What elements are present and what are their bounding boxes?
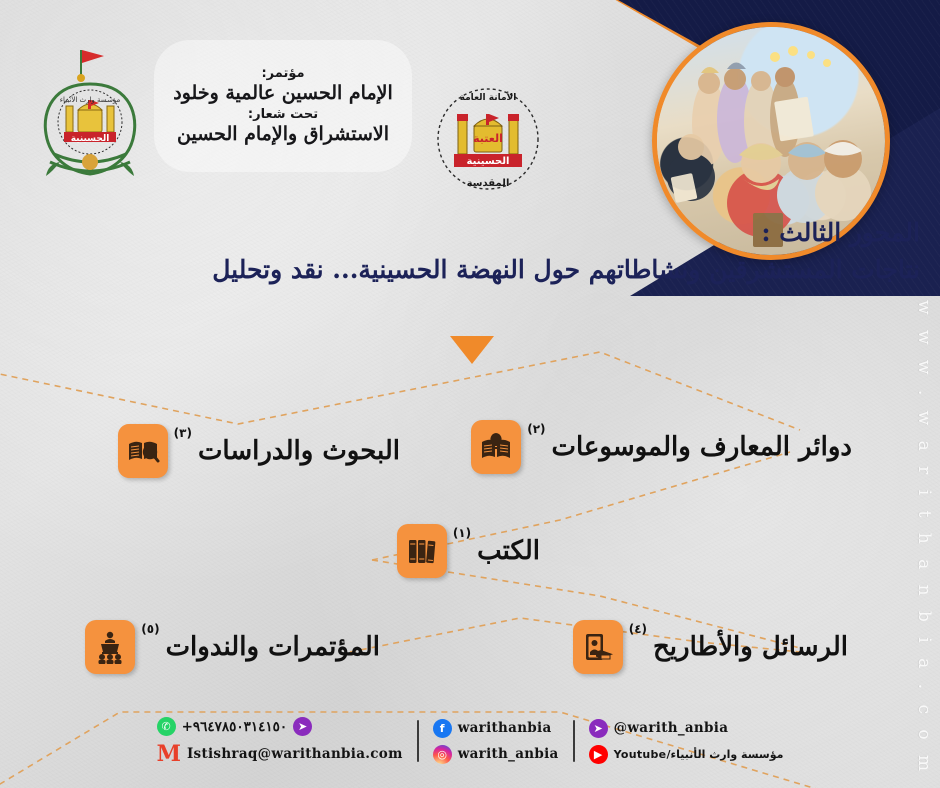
footer-facebook-row[interactable]: f warithanbia xyxy=(433,719,559,738)
node-research[interactable]: البحوث والدراسات (٣) xyxy=(118,424,400,478)
node-research-label: البحوث والدراسات xyxy=(198,436,400,466)
instagram-handle: warith_anbia xyxy=(458,746,559,762)
thesis-icon xyxy=(573,620,623,674)
facebook-icon: f xyxy=(433,719,452,738)
phone-number: +٩٦٤٧٨٥٠٣١٤١٥٠ xyxy=(182,719,288,735)
node-conferences-label: المؤتمرات والندوات xyxy=(166,632,380,662)
svg-text:الأمانة العامة: الأمانة العامة xyxy=(460,91,517,103)
heading-block: المحور الثالث : نتاجات المستشرقين ونشاطا… xyxy=(300,218,920,284)
svg-text:الحسينية: الحسينية xyxy=(467,156,510,167)
footer-contacts: ✆ +٩٦٤٧٨٥٠٣١٤١٥٠ ➤ M Istishraq@warithanb… xyxy=(0,710,940,772)
instagram-icon: ◎ xyxy=(433,745,452,764)
footer-divider-2 xyxy=(573,720,575,762)
conference-icon xyxy=(85,620,135,674)
node-research-number: (٣) xyxy=(174,426,192,440)
research-icon xyxy=(118,424,168,478)
footer-telegram-row[interactable]: ➤ @warith_anbia xyxy=(589,719,784,738)
node-theses-label: الرسائل والأطاريح xyxy=(653,632,848,662)
whatsapp-icon: ✆ xyxy=(157,717,176,736)
encyclopedia-icon xyxy=(471,420,521,474)
footer-col-mid: f warithanbia ◎ warith_anbia xyxy=(433,719,559,764)
youtube-icon: ▶ xyxy=(589,745,608,764)
facebook-handle: warithanbia xyxy=(458,720,552,736)
footer-col-right: ➤ @warith_anbia ▶ مؤسسة وارث الأنبياء/Yo… xyxy=(589,719,784,764)
node-conferences-number: (٥) xyxy=(141,622,159,636)
telegram-handle: @warith_anbia xyxy=(614,720,729,736)
svg-text:المقدسة: المقدسة xyxy=(467,178,510,189)
youtube-handle: مؤسسة وارث الأنبياء/Youtube xyxy=(614,748,784,761)
svg-text:مؤسسة وارث الأنبياء: مؤسسة وارث الأنبياء xyxy=(60,95,121,104)
infographic-poster: مؤتمر: الإمام الحسين عالمية وخلود تحت شع… xyxy=(0,0,940,788)
node-encyclopedias-number: (٢) xyxy=(527,422,545,436)
slogan-prefix: تحت شعار: xyxy=(248,107,318,122)
books-icon xyxy=(397,524,447,578)
axis-label: المحور الثالث : xyxy=(300,218,920,247)
telegram-channel-icon: ➤ xyxy=(589,719,608,738)
email-address: Istishraq@warithanbia.com xyxy=(187,746,403,762)
svg-text:الحسينية: الحسينية xyxy=(71,134,110,144)
node-theses[interactable]: الرسائل والأطاريح (٤) xyxy=(573,620,848,674)
footer-col-left: ✆ +٩٦٤٧٨٥٠٣١٤١٥٠ ➤ M Istishraq@warithanb… xyxy=(157,717,403,765)
down-arrow-icon xyxy=(450,336,494,364)
footer-email-row[interactable]: M Istishraq@warithanbia.com xyxy=(157,743,403,765)
node-books-label: الكتب xyxy=(477,536,540,566)
node-encyclopedias[interactable]: دوائر المعارف والموسوعات (٢) xyxy=(471,420,852,474)
axis-title: نتاجات المستشرقين ونشاطاتهم حول النهضة ا… xyxy=(300,255,920,284)
conference-name: الإمام الحسين عالمية وخلود xyxy=(173,83,392,105)
footer-instagram-row[interactable]: ◎ warith_anbia xyxy=(433,745,559,764)
node-conferences[interactable]: المؤتمرات والندوات (٥) xyxy=(85,620,380,674)
node-encyclopedias-label: دوائر المعارف والموسوعات xyxy=(552,432,853,462)
footer-phone-row[interactable]: ✆ +٩٦٤٧٨٥٠٣١٤١٥٠ ➤ xyxy=(157,717,403,736)
node-books[interactable]: الكتب (١) xyxy=(397,524,540,578)
svg-text:العتبة: العتبة xyxy=(473,132,503,145)
telegram-icon: ➤ xyxy=(293,717,312,736)
website-watermark: w w w . w a r i t h a n b i a . c o m xyxy=(914,300,934,776)
node-theses-number: (٤) xyxy=(629,622,647,636)
holy-shrine-logo: الحسينية العتبة الأمانة العامة المقدسة xyxy=(424,78,552,200)
footer-youtube-row[interactable]: ▶ مؤسسة وارث الأنبياء/Youtube xyxy=(589,745,784,764)
footer-divider-1 xyxy=(417,720,419,762)
conference-title-pill: مؤتمر: الإمام الحسين عالمية وخلود تحت شع… xyxy=(154,40,412,172)
gmail-icon: M xyxy=(157,743,181,765)
conference-prefix: مؤتمر: xyxy=(261,66,304,81)
node-books-number: (١) xyxy=(453,526,471,540)
conference-slogan: الاستشراق والإمام الحسين xyxy=(177,124,389,146)
warith-anbia-logo: الحسينية مؤسسة وارث الأنبياء xyxy=(24,44,156,186)
